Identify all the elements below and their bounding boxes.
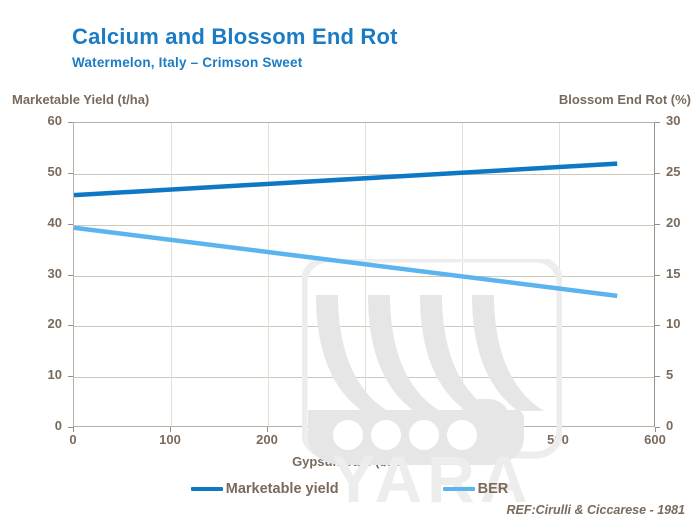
data-series-lines (74, 123, 656, 428)
series-line-marketable-yield (74, 164, 617, 196)
chart-subtitle: Watermelon, Italy – Crimson Sweet (72, 55, 302, 70)
chart-title: Calcium and Blossom End Rot (72, 24, 398, 50)
x-axis-tick-label: 100 (140, 432, 200, 447)
legend-swatch (191, 487, 223, 491)
plot-area: YARA (73, 122, 655, 427)
right-axis-tick-label: 10 (666, 316, 699, 331)
left-axis-title: Marketable Yield (t/ha) (12, 92, 149, 107)
left-axis-tick-label: 60 (0, 113, 62, 128)
x-axis-tick-label: 400 (431, 432, 491, 447)
left-axis-tick-label: 20 (0, 316, 62, 331)
legend-label: BER (478, 481, 509, 497)
chart-container: Calcium and Blossom End Rot Watermelon, … (0, 0, 699, 524)
left-axis-tick-label: 0 (0, 418, 62, 433)
x-axis-tick-label: 300 (334, 432, 394, 447)
legend-item[interactable]: Marketable yield (191, 481, 339, 497)
chart-legend: Marketable yieldBER (0, 478, 699, 500)
left-axis-tick-label: 10 (0, 367, 62, 382)
reference-citation: REF:Cirulli & Ciccarese - 1981 (506, 503, 685, 517)
left-axis-tick-label: 40 (0, 215, 62, 230)
x-axis-tick-label: 500 (528, 432, 588, 447)
x-axis-title: Gypsum rate (t/ha) (0, 454, 699, 469)
legend-item[interactable]: BER (443, 481, 509, 497)
right-axis-tick-label: 0 (666, 418, 699, 433)
left-axis-tick-label: 50 (0, 164, 62, 179)
left-axis-tick-label: 30 (0, 266, 62, 281)
right-axis-title: Blossom End Rot (%) (559, 92, 691, 107)
x-axis-tick-label: 600 (625, 432, 685, 447)
x-axis-tick-label: 0 (43, 432, 103, 447)
right-axis-tick-label: 20 (666, 215, 699, 230)
series-line-ber (74, 228, 617, 296)
legend-swatch (443, 487, 475, 491)
right-axis-tick-label: 25 (666, 164, 699, 179)
x-axis-tick-label: 200 (237, 432, 297, 447)
right-axis-tick-label: 30 (666, 113, 699, 128)
legend-label: Marketable yield (226, 481, 339, 497)
right-axis-tick-label: 15 (666, 266, 699, 281)
right-axis-tick-label: 5 (666, 367, 699, 382)
